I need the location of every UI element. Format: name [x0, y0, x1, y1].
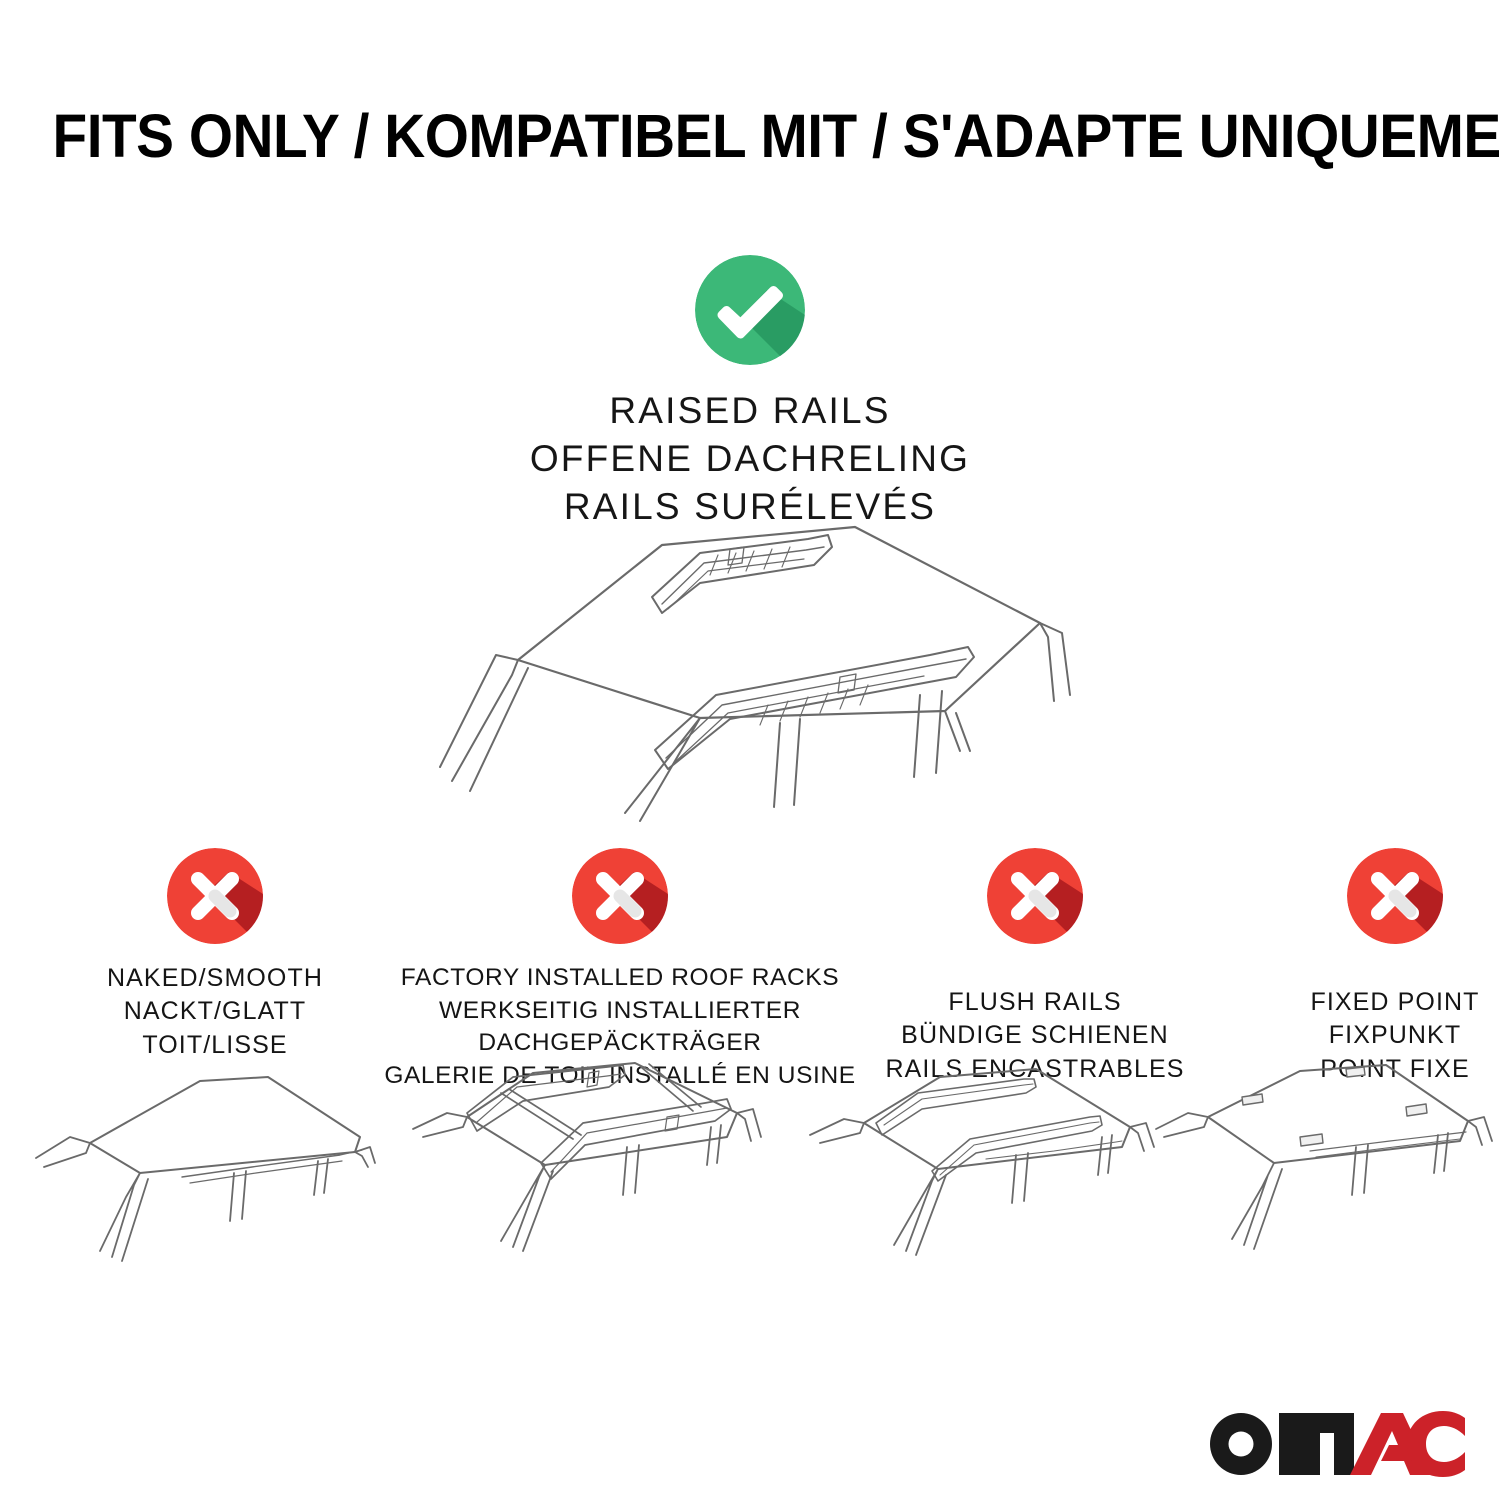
- label-line-1: FIXED POINT: [1310, 986, 1479, 1019]
- label-line-2: BÜNDIGE SCHIENEN: [885, 1019, 1184, 1052]
- red-x-icon: [572, 848, 668, 944]
- red-x-icon: [987, 848, 1083, 944]
- compatible-label-line-1: RAISED RAILS: [530, 387, 970, 435]
- car-roof-fixed-point-illustration: [1150, 1055, 1500, 1295]
- label-line-1: FLUSH RAILS: [885, 986, 1184, 1019]
- illustration-row: [0, 1055, 1500, 1305]
- car-roof-raised-rails-illustration: [400, 505, 1100, 835]
- red-x-icon: [167, 848, 263, 944]
- compatible-section: RAISED RAILS OFFENE DACHRELING RAILS SUR…: [0, 255, 1500, 531]
- label-line-2: WERKSEITIG INSTALLIERTER: [384, 995, 855, 1028]
- car-roof-factory-rack-illustration: [405, 1055, 805, 1295]
- label-line-1: FACTORY INSTALLED ROOF RACKS: [384, 962, 855, 995]
- incompatible-column-flush-rails: FLUSH RAILS BÜNDIGE SCHIENEN RAILS ENCAS…: [865, 848, 1205, 1086]
- red-x-icon: [1347, 848, 1443, 944]
- label-line-2: FIXPUNKT: [1310, 1019, 1479, 1052]
- incompatible-column-naked-smooth: NAKED/SMOOTH NACKT/GLATT TOIT/LISSE: [65, 848, 365, 1062]
- compatible-label-line-2: OFFENE DACHRELING: [530, 435, 970, 483]
- label-line-1: NAKED/SMOOTH: [107, 962, 323, 995]
- omac-logo: [1203, 1404, 1465, 1478]
- label-line-2: NACKT/GLATT: [107, 995, 323, 1028]
- green-check-icon: [695, 255, 805, 365]
- incompatible-column-fixed-point: FIXED POINT FIXPUNKT POINT FIXE: [1235, 848, 1500, 1086]
- car-roof-naked-smooth-illustration: [30, 1055, 420, 1295]
- car-roof-flush-rails-illustration: [800, 1055, 1195, 1295]
- page-title: FITS ONLY / KOMPATIBEL MIT / S'ADAPTE UN…: [53, 104, 1448, 168]
- incompatible-label-naked-smooth: NAKED/SMOOTH NACKT/GLATT TOIT/LISSE: [107, 962, 323, 1062]
